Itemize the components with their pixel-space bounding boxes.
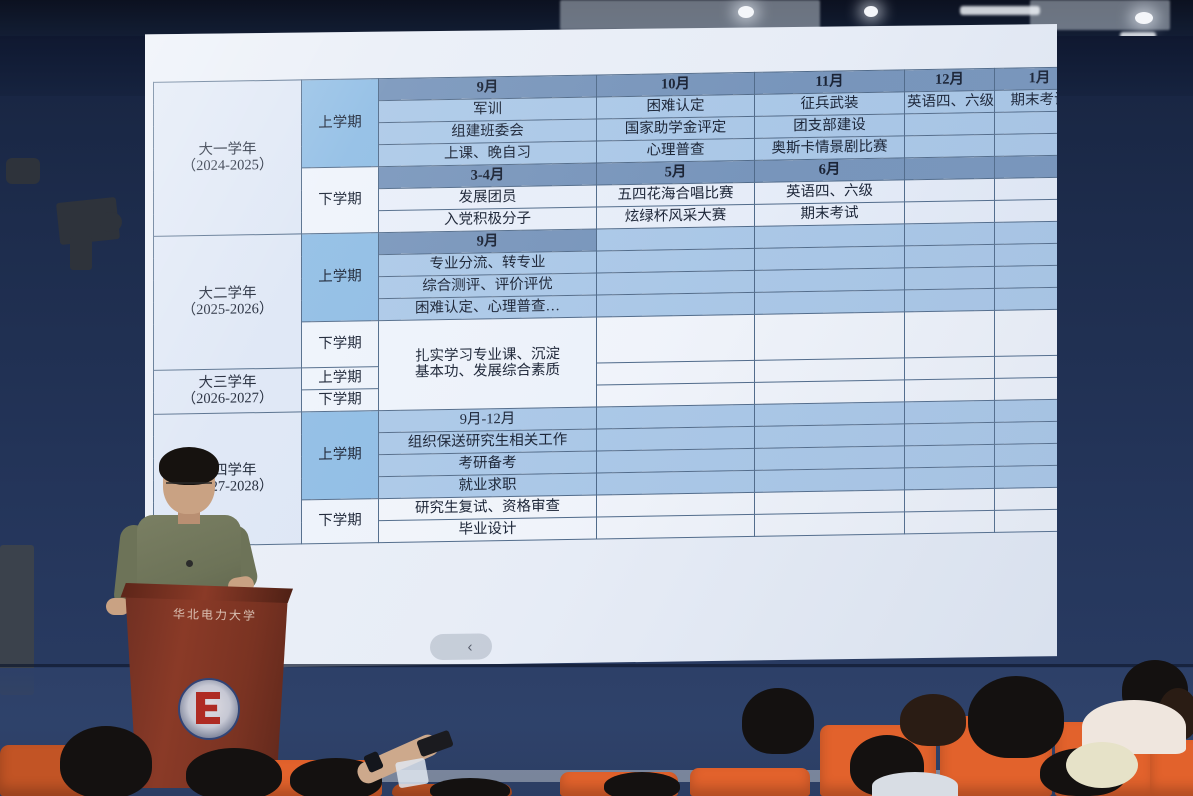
task-cell: [755, 490, 905, 514]
task-cell: [755, 446, 905, 470]
audience-head: [900, 694, 966, 746]
task-cell: [905, 510, 995, 533]
task-cell: 奥斯卡情景剧比赛: [755, 136, 905, 160]
semester-cell: 下学期: [302, 389, 379, 412]
glasses-icon: [166, 482, 212, 493]
task-cell: [597, 470, 755, 495]
audience-head: [604, 772, 680, 796]
slideshow-prev-button[interactable]: ‹: [430, 633, 492, 660]
semester-cell: 上学期: [302, 367, 379, 390]
free-note-line2: 基本功、发展综合素质: [415, 362, 560, 380]
ceiling-panel: [560, 0, 820, 30]
task-cell: [755, 468, 905, 492]
audience-shoulders: [1066, 742, 1138, 788]
task-cell: [905, 266, 995, 289]
lectern-university-name: 华北电力大学: [150, 604, 280, 624]
audience-shoulders: [872, 772, 958, 796]
task-cell: [755, 268, 905, 292]
slide-content: 大一学年 （2024-2025） 上学期 9月 10月 11月 12月 1月 军…: [145, 9, 1057, 669]
task-cell: [905, 400, 995, 423]
ceiling-camera: [6, 158, 40, 184]
task-cell: [755, 424, 905, 448]
task-cell: [755, 246, 905, 270]
task-cell: [597, 492, 755, 517]
four-year-plan-table: 大一学年 （2024-2025） 上学期 9月 10月 11月 12月 1月 军…: [153, 66, 1085, 546]
task-cell: [597, 360, 755, 385]
projection-screen: 大一学年 （2024-2025） 上学期 9月 10月 11月 12月 1月 军…: [145, 24, 1057, 669]
month-header: 12月: [905, 68, 995, 91]
year-range: （2026-2027）: [182, 389, 274, 407]
university-logo-icon: [178, 678, 240, 740]
task-cell: 困难认定: [597, 94, 755, 119]
task-cell: 炫绿杯风采大赛: [597, 204, 755, 229]
semester-cell: 下学期: [302, 321, 379, 368]
task-cell: [597, 514, 755, 539]
task-cell: 毕业设计: [379, 517, 597, 543]
task-cell: [905, 466, 995, 489]
task-cell: 团支部建设: [755, 114, 905, 138]
semester-cell: 上学期: [302, 233, 379, 322]
ceiling-light: [738, 6, 754, 18]
seat: [690, 768, 810, 796]
audience-head: [430, 778, 510, 796]
task-cell: 征兵武装: [755, 92, 905, 116]
semester-cell: 上学期: [302, 411, 379, 500]
year-cell-1: 大一学年 （2024-2025）: [154, 80, 302, 236]
task-cell: [597, 404, 755, 429]
year-range: （2025-2026）: [182, 300, 274, 318]
task-cell: 国家助学金评定: [597, 116, 755, 141]
task-cell: 英语四、六级: [755, 180, 905, 204]
phone-screen-glow: [395, 758, 429, 789]
task-cell: [597, 270, 755, 295]
task-cell: [905, 422, 995, 445]
semester-cell: 下学期: [302, 167, 379, 234]
semester-cell: 上学期: [302, 79, 379, 168]
task-cell: 心理普查: [597, 138, 755, 163]
year-range: （2024-2025）: [182, 156, 274, 174]
task-cell: [905, 112, 995, 135]
task-cell: [597, 426, 755, 451]
audience-head: [186, 748, 282, 796]
task-cell: [597, 226, 755, 251]
task-cell: 英语四、六级: [905, 90, 995, 113]
year-cell-2: 大二学年 （2025-2026）: [154, 234, 302, 370]
month-header: [905, 156, 995, 179]
task-cell: [755, 512, 905, 536]
task-cell: [597, 314, 755, 363]
task-cell: [905, 178, 995, 201]
year-cell-3: 大三学年 （2026-2027）: [154, 368, 302, 414]
task-cell: [905, 488, 995, 511]
task-cell: [597, 248, 755, 273]
task-cell: [905, 288, 995, 311]
task-cell: [905, 378, 995, 401]
task-cell: [905, 222, 995, 245]
task-cell: [755, 224, 905, 248]
task-cell: [905, 356, 995, 379]
task-cell: 五四花海合唱比赛: [597, 182, 755, 207]
task-cell: [755, 312, 905, 360]
month-header: 6月: [755, 158, 905, 182]
audience-head: [742, 688, 814, 754]
month-header: 5月: [597, 160, 755, 185]
task-cell: 期末考试: [755, 202, 905, 226]
lecture-hall-photo: 大一学年 （2024-2025） 上学期 9月 10月 11月 12月 1月 军…: [0, 0, 1193, 796]
audience-head: [968, 676, 1064, 758]
task-cell: [905, 310, 995, 357]
task-cell: [905, 244, 995, 267]
ceiling-light: [1135, 12, 1153, 24]
task-cell: [755, 290, 905, 314]
task-cell: [597, 292, 755, 317]
free-note-cell: 扎实学习专业课、沉淀 基本功、发展综合素质: [379, 317, 597, 411]
task-cell: [755, 380, 905, 404]
ceiling-light: [864, 6, 878, 17]
camera-mount: [70, 236, 92, 270]
task-cell: [597, 382, 755, 407]
table-body: 大一学年 （2024-2025） 上学期 9月 10月 11月 12月 1月 军…: [154, 67, 1085, 546]
task-cell: [755, 358, 905, 382]
task-cell: [905, 444, 995, 467]
ceiling-light-strip: [960, 6, 1040, 15]
camera-lens: [100, 212, 122, 232]
audience-head: [60, 726, 152, 796]
task-cell: [905, 134, 995, 157]
month-header: 11月: [755, 70, 905, 94]
lapel-mic-icon: [186, 560, 193, 567]
task-cell: [905, 200, 995, 223]
task-cell: [597, 448, 755, 473]
semester-cell: 下学期: [302, 499, 379, 544]
presenter-hair: [159, 447, 219, 485]
month-header: 10月: [597, 72, 755, 97]
task-cell: [755, 402, 905, 426]
chevron-left-icon: ‹: [468, 638, 473, 655]
